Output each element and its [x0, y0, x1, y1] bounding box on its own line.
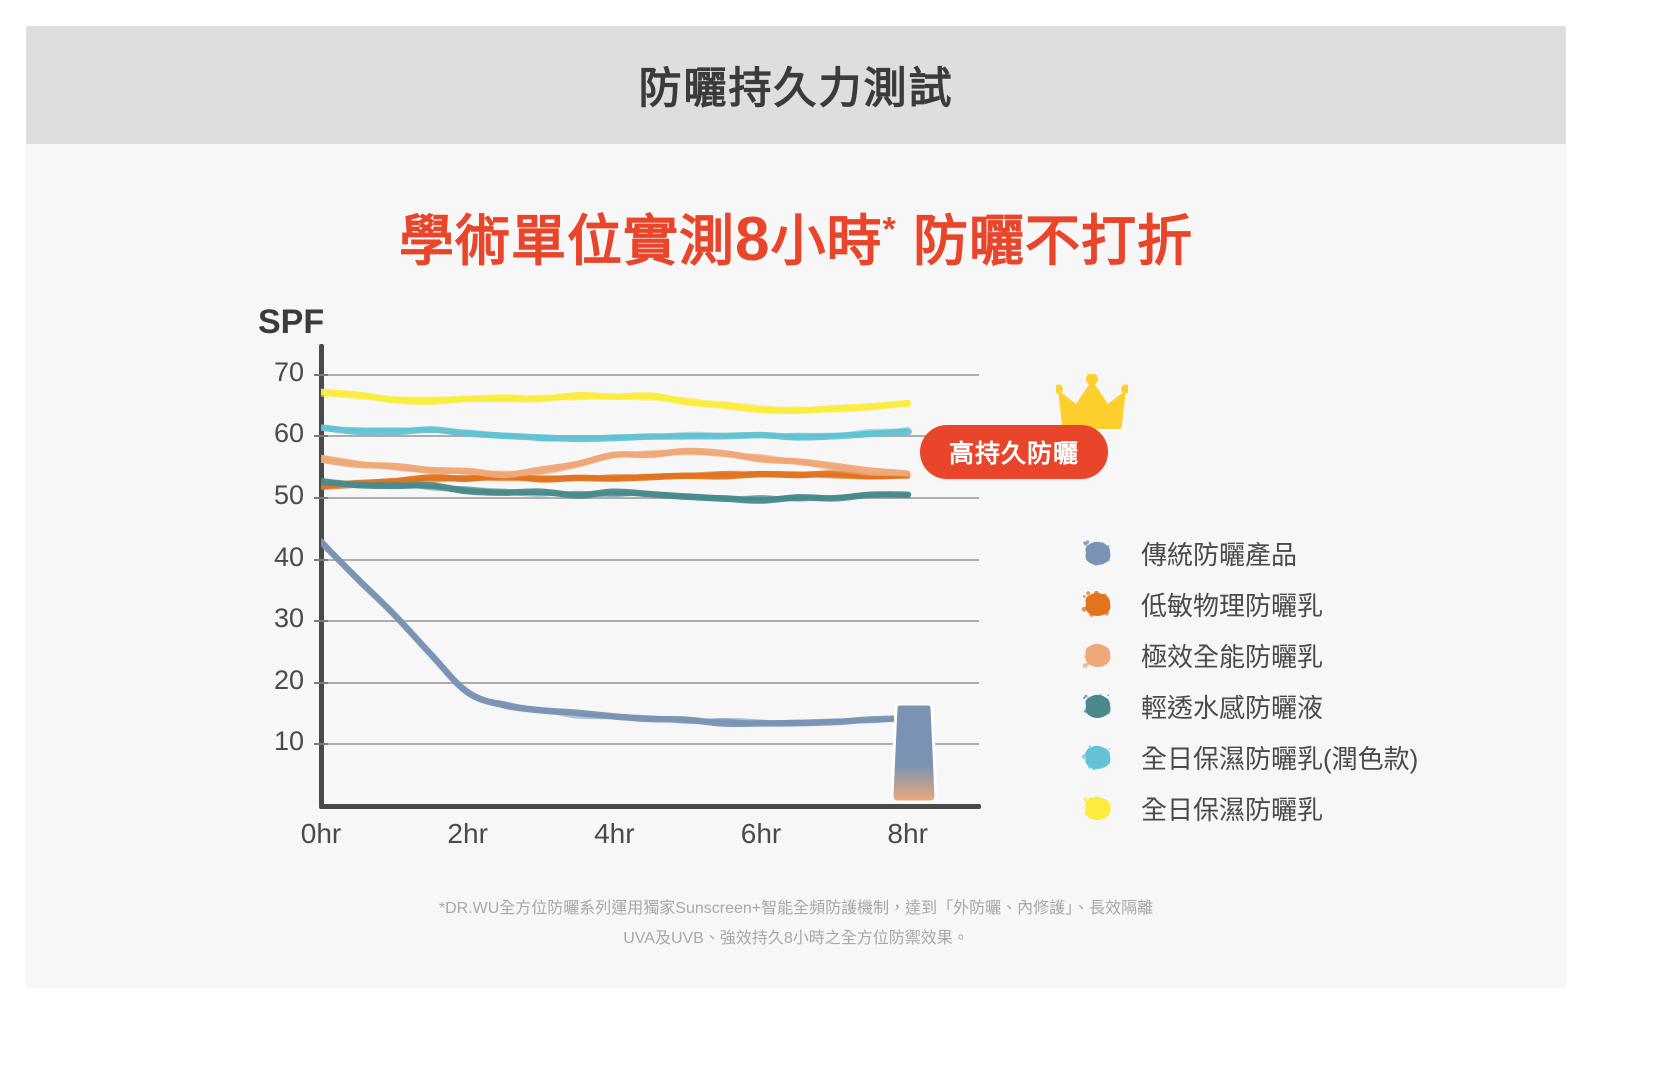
legend-item-label: 極效全能防曬乳 [1141, 637, 1323, 674]
footnote-line-1: *DR.WU全方位防曬系列運用獨家Sunscreen+智能全頻防護機制，達到「外… [26, 894, 1566, 924]
badge-label: 高持久防曬 [949, 434, 1079, 470]
y-tick-label-30: 30 [226, 603, 304, 634]
legend-item-label: 全日保濕防曬乳 [1141, 790, 1323, 827]
crown-icon [1056, 374, 1128, 430]
series-3 [321, 481, 909, 500]
y-tick-label-70: 70 [226, 357, 304, 388]
legend-swatch-icon [1081, 591, 1113, 617]
x-tick-label-0hr: 0hr [276, 818, 366, 850]
x-tick-label-4hr: 4hr [569, 818, 659, 850]
series-4 [321, 427, 909, 440]
legend-item-label: 低敏物理防曬乳 [1141, 586, 1323, 623]
legend-swatch-icon [1081, 744, 1113, 770]
y-tick-label-20: 20 [226, 665, 304, 696]
legend-swatch-icon [1081, 693, 1113, 719]
x-tick-label-6hr: 6hr [716, 818, 806, 850]
y-tick-label-10: 10 [226, 726, 304, 757]
legend-item-2: 極效全能防曬乳 [1081, 630, 1501, 680]
legend-swatch-icon [1081, 795, 1113, 821]
y-tick-label-50: 50 [226, 480, 304, 511]
chart-legend: 傳統防曬產品低敏物理防曬乳極效全能防曬乳輕透水感防曬液全日保濕防曬乳(潤色款)全… [1081, 528, 1501, 834]
footnote-line-2: UVA及UVB、強效持久8小時之全方位防禦效果。 [26, 924, 1566, 954]
legend-item-1: 低敏物理防曬乳 [1081, 579, 1501, 629]
legend-item-0: 傳統防曬產品 [1081, 528, 1501, 578]
series-5 [321, 392, 909, 411]
chart-container: SPF 70605040302010 0hr2hr4hr6hr8hr 高持久防曬… [26, 26, 1566, 988]
legend-item-label: 輕透水感防曬液 [1141, 688, 1323, 725]
x-tick-label-8hr: 8hr [863, 818, 953, 850]
x-tick-label-2hr: 2hr [423, 818, 513, 850]
series-0 [321, 540, 909, 725]
legend-item-label: 傳統防曬產品 [1141, 535, 1297, 572]
y-tick-label-60: 60 [226, 418, 304, 449]
legend-swatch-icon [1081, 642, 1113, 668]
legend-item-3: 輕透水感防曬液 [1081, 681, 1501, 731]
footnote: *DR.WU全方位防曬系列運用獨家Sunscreen+智能全頻防護機制，達到「外… [26, 894, 1566, 954]
y-tick-label-40: 40 [226, 542, 304, 573]
legend-swatch-icon [1081, 540, 1113, 566]
legend-item-label: 全日保濕防曬乳(潤色款) [1141, 739, 1418, 776]
series-lines [321, 344, 981, 806]
high-durability-badge: 高持久防曬 [920, 425, 1108, 479]
legend-item-4: 全日保濕防曬乳(潤色款) [1081, 732, 1501, 782]
plot-area [321, 344, 981, 806]
infographic-card: 防曬持久力測試 學術單位實測8小時* 防曬不打折 SPF 70605040302… [26, 26, 1566, 988]
legend-item-5: 全日保濕防曬乳 [1081, 783, 1501, 833]
y-axis-title: SPF [258, 303, 324, 342]
sunscreen-bottle-icon [890, 704, 938, 802]
page-root: 防曬持久力測試 學術單位實測8小時* 防曬不打折 SPF 70605040302… [0, 0, 1656, 1066]
